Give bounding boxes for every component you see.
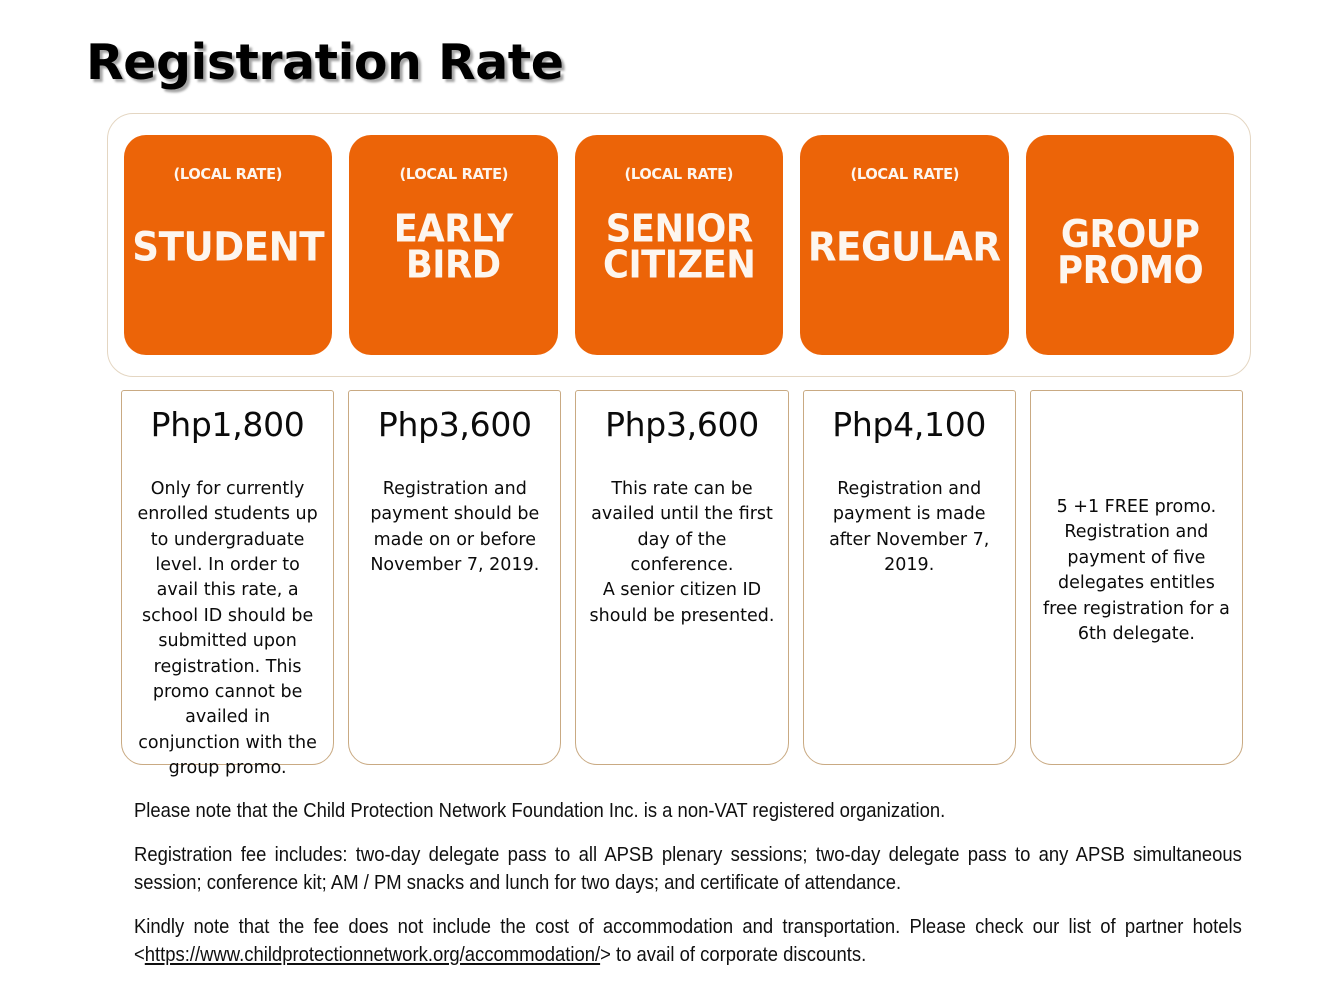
rate-amount: Php1,800 (151, 406, 305, 444)
category-card-senior-citizen[interactable]: (LOCAL RATE) SENIOR CITIZEN (575, 135, 783, 355)
rate-amount: Php4,100 (832, 406, 986, 444)
category-card-row: (LOCAL RATE) STUDENT (LOCAL RATE) EARLY … (107, 113, 1251, 377)
category-title: GROUP PROMO (1033, 216, 1227, 288)
rate-card-student: Php1,800 Only for currently enrolled stu… (121, 390, 334, 765)
rate-card-early-bird: Php3,600 Registration and payment should… (348, 390, 561, 765)
rate-description: Registration and payment should be made … (360, 477, 549, 579)
category-sublabel: (LOCAL RATE) (399, 167, 508, 183)
rate-amount: Php3,600 (605, 406, 759, 444)
rate-card-row: Php1,800 Only for currently enrolled stu… (121, 390, 1243, 765)
rate-description: Registration and payment is made after N… (815, 477, 1004, 579)
category-title: STUDENT (131, 228, 325, 266)
page-title: Registration Rate (86, 34, 563, 91)
rate-description: Only for currently enrolled students up … (133, 477, 322, 782)
note-accommodation: Kindly note that the fee does not includ… (134, 913, 1242, 969)
rate-card-group-promo: 5 +1 FREE promo. Registration and paymen… (1030, 390, 1243, 765)
category-sublabel: (LOCAL RATE) (625, 167, 734, 183)
note-accommodation-text-after: > to avail of corporate discounts. (600, 943, 866, 966)
category-title: REGULAR (808, 228, 1002, 266)
category-title: SENIOR CITIZEN (582, 210, 776, 282)
category-sublabel: (LOCAL RATE) (174, 167, 283, 183)
rate-card-senior-citizen: Php3,600 This rate can be availed until … (575, 390, 788, 765)
footer-notes: Please note that the Child Protection Ne… (134, 797, 1238, 968)
category-card-regular[interactable]: (LOCAL RATE) REGULAR (800, 135, 1008, 355)
note-inclusions: Registration fee includes: two-day deleg… (134, 841, 1242, 897)
category-sublabel: (LOCAL RATE) (850, 167, 959, 183)
note-vat: Please note that the Child Protection Ne… (134, 797, 1242, 825)
accommodation-link[interactable]: https://www.childprotectionnetwork.org/a… (145, 943, 600, 966)
category-card-group-promo[interactable]: GROUP PROMO (1026, 135, 1234, 355)
rate-description: This rate can be availed until the first… (587, 477, 776, 629)
rate-card-regular: Php4,100 Registration and payment is mad… (803, 390, 1016, 765)
category-title: EARLY BIRD (357, 210, 551, 282)
category-card-student[interactable]: (LOCAL RATE) STUDENT (124, 135, 332, 355)
category-card-early-bird[interactable]: (LOCAL RATE) EARLY BIRD (349, 135, 557, 355)
rate-amount: Php3,600 (378, 406, 532, 444)
rate-description: 5 +1 FREE promo. Registration and paymen… (1042, 495, 1231, 647)
